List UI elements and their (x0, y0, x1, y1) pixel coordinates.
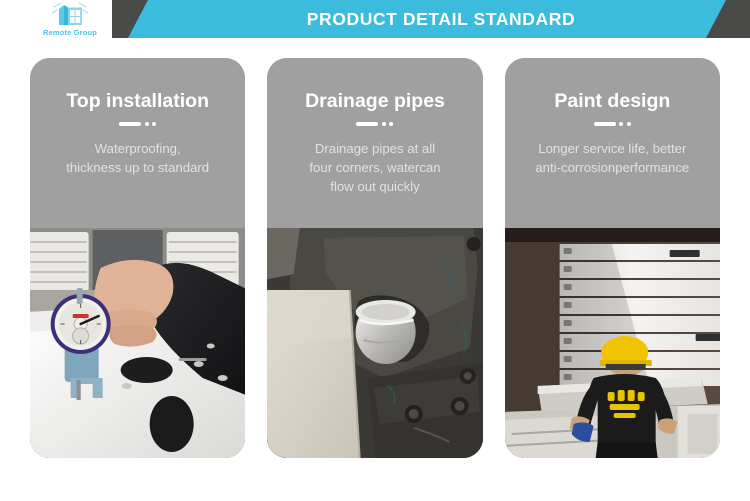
feature-card-list: Top installation Waterproofing, thicknes… (30, 58, 720, 458)
photo-artwork (505, 228, 720, 458)
card-description: Waterproofing, thickness up to standard (66, 140, 209, 177)
dash-dot-divider-icon (119, 122, 156, 126)
card-title: Drainage pipes (305, 90, 445, 112)
card-text-panel: Top installation Waterproofing, thicknes… (30, 58, 245, 228)
feature-card-paint-design[interactable]: Paint design Longer service life, better… (505, 58, 720, 458)
page-header: Remote Group PRODUCT DETAIL STANDARD (0, 0, 750, 45)
dash-dot-divider-icon (356, 122, 393, 126)
building-house-icon (48, 1, 92, 27)
thickness-gauge-measurement-photo (30, 228, 245, 458)
card-text-panel: Paint design Longer service life, better… (505, 58, 720, 228)
card-title: Top installation (66, 90, 209, 112)
card-text-panel: Drainage pipes Drainage pipes at all fou… (267, 58, 482, 228)
photo-artwork (30, 228, 245, 458)
worker-painted-panels-photo (505, 228, 720, 458)
card-description: Longer service life, better anti-corrosi… (535, 140, 689, 177)
card-title: Paint design (554, 90, 670, 112)
brand-name: Remote Group (43, 28, 97, 37)
dash-dot-divider-icon (594, 122, 631, 126)
photo-artwork (267, 228, 482, 458)
feature-card-drainage-pipes[interactable]: Drainage pipes Drainage pipes at all fou… (267, 58, 482, 458)
page-title: PRODUCT DETAIL STANDARD (112, 0, 750, 38)
brand-logo[interactable]: Remote Group (32, 1, 108, 43)
card-description: Drainage pipes at all four corners, wate… (309, 140, 440, 196)
drainage-pipe-corner-photo (267, 228, 482, 458)
feature-card-top-installation[interactable]: Top installation Waterproofing, thicknes… (30, 58, 245, 458)
section-banner: PRODUCT DETAIL STANDARD (112, 0, 750, 38)
